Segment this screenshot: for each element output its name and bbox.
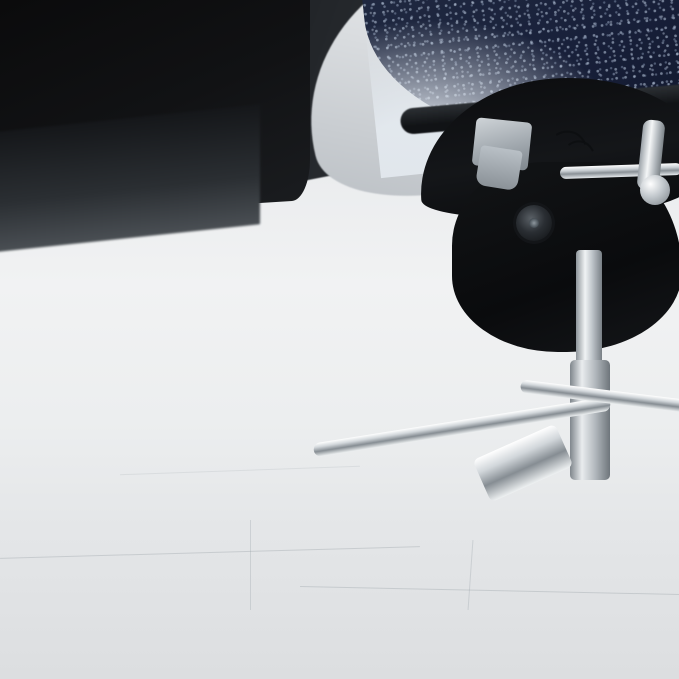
background-photo xyxy=(0,0,679,679)
floor-seam xyxy=(250,520,251,610)
chrome-joint xyxy=(640,175,670,205)
product-marketing-poster: INCREASED SUPPORT + STABILITY WEAR DAY O… xyxy=(0,0,679,679)
tilt-tension-knob xyxy=(516,205,552,241)
chair-lever xyxy=(475,145,523,191)
